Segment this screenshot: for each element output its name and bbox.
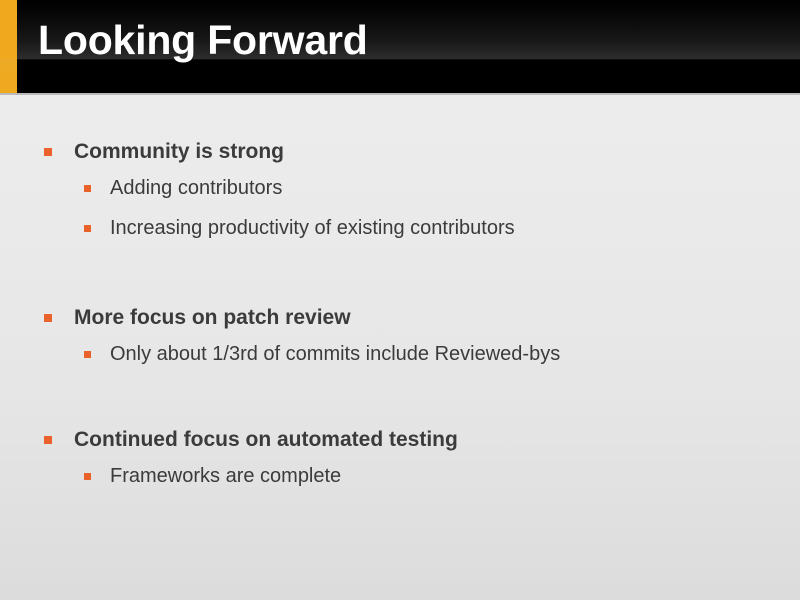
slide: Looking Forward Community is strong Addi…: [0, 0, 800, 600]
bullet-level1-label: More focus on patch review: [74, 305, 351, 331]
bullet-group: More focus on patch review Only about 1/…: [0, 305, 800, 369]
title-accent-bar: [0, 0, 17, 95]
bullet-item-level1: Community is strong: [0, 139, 800, 165]
bullet-item-level1: Continued focus on automated testing: [0, 427, 800, 453]
slide-content: Community is strong Adding contributors …: [0, 95, 800, 600]
square-bullet-icon: [84, 351, 91, 358]
bullet-item-level1: More focus on patch review: [0, 305, 800, 331]
bullet-level2-label: Adding contributors: [110, 175, 282, 202]
bullet-level1-label: Continued focus on automated testing: [74, 427, 458, 453]
bullet-group: Continued focus on automated testing Fra…: [0, 427, 800, 491]
bullet-item-level2: Frameworks are complete: [0, 463, 800, 490]
bullet-item-level2: Only about 1/3rd of commits include Revi…: [0, 341, 800, 368]
bullet-level2-label: Frameworks are complete: [110, 463, 341, 490]
sub-bullet-list: Frameworks are complete: [0, 463, 800, 490]
bullet-group: Community is strong Adding contributors …: [0, 139, 800, 243]
bullet-item-level2: Increasing productivity of existing cont…: [0, 215, 800, 242]
square-bullet-icon: [44, 314, 52, 322]
sub-bullet-list: Adding contributors Increasing productiv…: [0, 175, 800, 242]
slide-title-bar: Looking Forward: [0, 0, 800, 95]
square-bullet-icon: [84, 185, 91, 192]
bullet-level2-label: Only about 1/3rd of commits include Revi…: [110, 341, 560, 368]
square-bullet-icon: [44, 148, 52, 156]
square-bullet-icon: [84, 225, 91, 232]
square-bullet-icon: [84, 473, 91, 480]
square-bullet-icon: [44, 436, 52, 444]
slide-title: Looking Forward: [38, 17, 368, 64]
bullet-item-level2: Adding contributors: [0, 175, 800, 202]
bullet-level1-label: Community is strong: [74, 139, 284, 165]
sub-bullet-list: Only about 1/3rd of commits include Revi…: [0, 341, 800, 368]
bullet-level2-label: Increasing productivity of existing cont…: [110, 215, 515, 242]
